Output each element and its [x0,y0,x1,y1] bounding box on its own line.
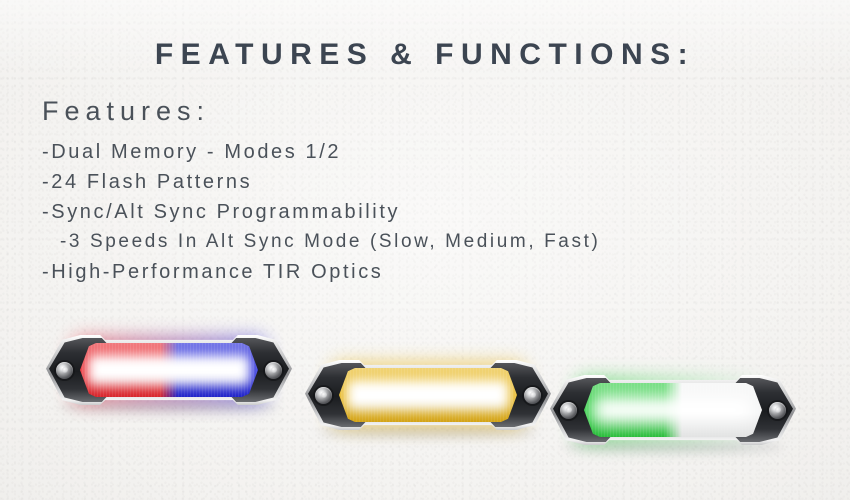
light-lens [80,343,258,397]
led-light-amber [305,360,551,430]
mounting-screw-left [56,362,73,379]
mounting-screw-right [265,362,282,379]
lens-sheen [339,368,517,422]
mounting-screw-left [315,387,332,404]
slide-canvas: FEATURES & FUNCTIONS: Features: -Dual Me… [0,0,850,500]
features-section: Features: -Dual Memory - Modes 1/2 -24 F… [42,96,822,287]
page-title: FEATURES & FUNCTIONS: [0,38,850,72]
light-lens [584,383,762,437]
led-light-green-white [550,375,796,445]
lens-sheen [584,383,762,437]
feature-item-alt-sync-speeds: -3 Speeds In Alt Sync Mode (Slow, Medium… [42,227,822,257]
feature-item-dual-memory: -Dual Memory - Modes 1/2 [42,137,822,167]
feature-item-tir-optics: -High-Performance TIR Optics [42,257,822,287]
mounting-screw-left [560,402,577,419]
feature-item-sync-programmability: -Sync/Alt Sync Programmability [42,197,822,227]
mounting-screw-right [524,387,541,404]
light-lens [339,368,517,422]
mounting-screw-right [769,402,786,419]
feature-item-flash-patterns: -24 Flash Patterns [42,167,822,197]
lens-sheen [80,343,258,397]
led-light-red-blue [46,335,292,405]
features-heading: Features: [42,96,822,127]
